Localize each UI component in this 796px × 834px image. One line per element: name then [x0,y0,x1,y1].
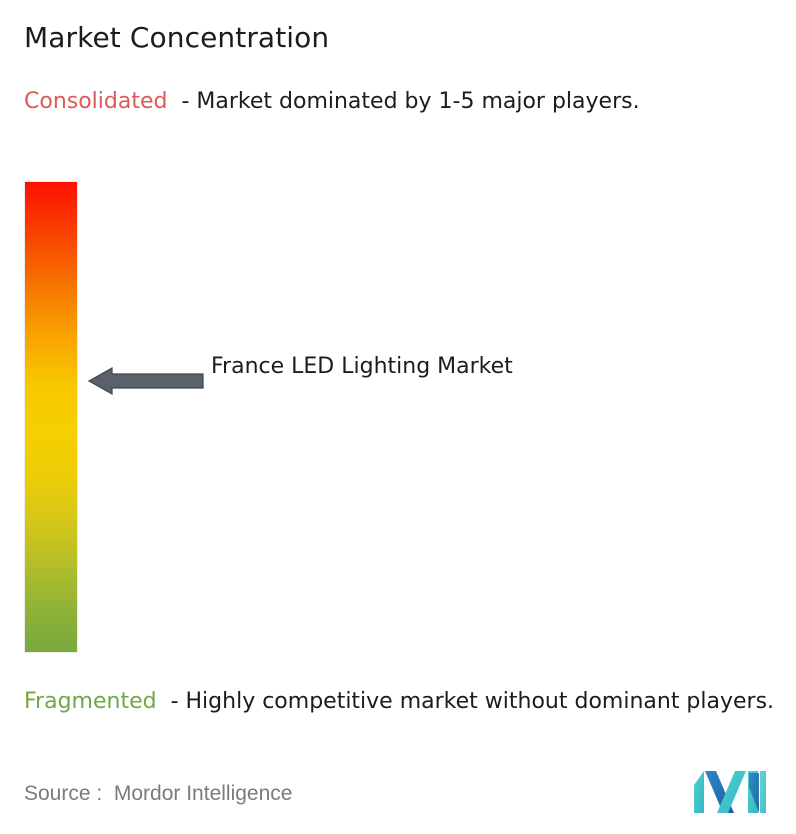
fragmented-description: Highly competitive market without domina… [186,689,775,714]
pointer-label: France LED Lighting Market [211,350,631,384]
concentration-gradient-bar [25,182,77,652]
market-pointer-arrow [88,366,204,396]
fragmented-keyword: Fragmented [24,689,157,714]
market-concentration-infographic: Market Concentration Consolidated - Mark… [0,0,796,834]
arrow-left-icon [88,366,204,396]
consolidated-keyword: Consolidated [24,89,167,114]
mi-monogram-icon [694,771,766,813]
fragmented-separator: - [157,689,186,714]
source-text: Source : Mordor Intelligence [24,780,292,808]
page-title: Market Concentration [24,20,329,56]
consolidated-caption: Consolidated - Market dominated by 1-5 m… [24,86,776,117]
fragmented-caption: Fragmented - Highly competitive market w… [24,686,784,717]
mordor-intelligence-logo [694,771,766,813]
consolidated-description: Market dominated by 1-5 major players. [196,89,639,114]
consolidated-separator: - [167,89,196,114]
